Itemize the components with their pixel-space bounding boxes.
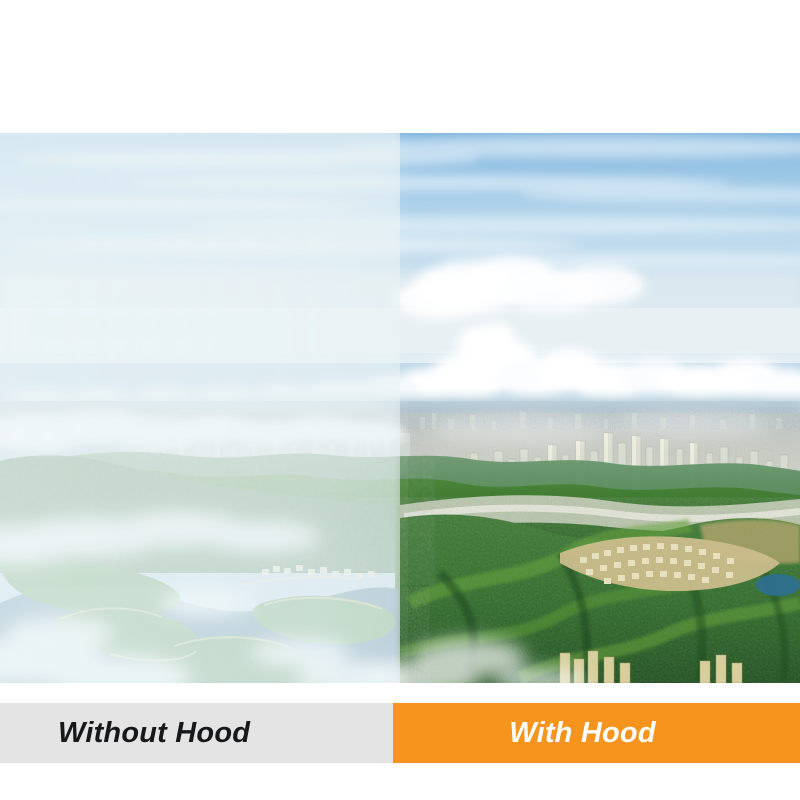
page-root: Without Hood With Hood [0, 0, 800, 800]
label-without-hood[interactable]: Without Hood [0, 703, 393, 763]
label-with-hood[interactable]: With Hood [393, 703, 800, 763]
label-without-hood-text: Without Hood [58, 719, 250, 748]
label-with-hood-text: With Hood [509, 719, 656, 748]
comparison-photo [0, 133, 800, 683]
comparison-label-bar: Without Hood With Hood [0, 703, 800, 763]
